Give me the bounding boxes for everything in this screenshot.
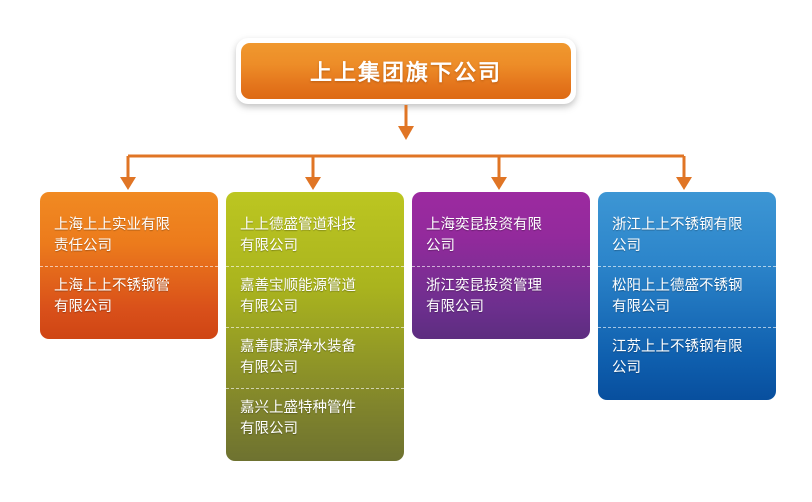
connector-group <box>128 105 684 178</box>
arrowhead-branch-1 <box>120 177 136 190</box>
card-3d-right-edge <box>775 198 783 403</box>
column-card-2-body: 上上德盛管道科技 有限公司 嘉善宝顺能源管道 有限公司 嘉善康源净水装备 有限公… <box>226 192 404 461</box>
list-item: 浙江奕昆投资管理 有限公司 <box>412 266 590 327</box>
list-item: 嘉兴上盛特种管件 有限公司 <box>226 388 404 449</box>
card-3d-bottom-edge <box>46 338 225 347</box>
root-node-body: 上上集团旗下公司 <box>241 43 571 99</box>
arrowhead-branch-2 <box>305 177 321 190</box>
column-card-4[interactable]: 浙江上上不锈钢有限 公司 松阳上上德盛不锈钢 有限公司 江苏上上不锈钢有限 公司 <box>598 192 776 400</box>
list-item: 浙江上上不锈钢有限 公司 <box>598 206 776 266</box>
card-3d-right-edge <box>589 198 597 342</box>
root-node[interactable]: 上上集团旗下公司 <box>236 38 576 104</box>
column-card-2[interactable]: 上上德盛管道科技 有限公司 嘉善宝顺能源管道 有限公司 嘉善康源净水装备 有限公… <box>226 192 404 461</box>
arrowhead-branch-3 <box>491 177 507 190</box>
org-chart: 上上集团旗下公司 上海上上实业有限 责任公司 上海上上不锈钢管 有限公司 <box>0 0 812 502</box>
list-item: 上海奕昆投资有限 公司 <box>412 206 590 266</box>
arrowhead-branch-4 <box>676 177 692 190</box>
arrowhead-root <box>398 126 414 140</box>
column-card-1[interactable]: 上海上上实业有限 责任公司 上海上上不锈钢管 有限公司 <box>40 192 218 339</box>
card-3d-right-edge <box>217 198 225 342</box>
list-item: 江苏上上不锈钢有限 公司 <box>598 327 776 388</box>
list-item: 上上德盛管道科技 有限公司 <box>226 206 404 266</box>
list-item: 上海上上实业有限 责任公司 <box>40 206 218 266</box>
card-3d-bottom-edge <box>604 399 783 408</box>
column-card-4-body: 浙江上上不锈钢有限 公司 松阳上上德盛不锈钢 有限公司 江苏上上不锈钢有限 公司 <box>598 192 776 400</box>
connector-arrowheads <box>120 126 692 190</box>
column-card-3[interactable]: 上海奕昆投资有限 公司 浙江奕昆投资管理 有限公司 <box>412 192 590 339</box>
column-card-3-body: 上海奕昆投资有限 公司 浙江奕昆投资管理 有限公司 <box>412 192 590 339</box>
root-node-label: 上上集团旗下公司 <box>310 55 502 87</box>
card-3d-bottom-edge <box>232 460 411 469</box>
card-3d-bottom-edge <box>418 338 597 347</box>
column-card-1-body: 上海上上实业有限 责任公司 上海上上不锈钢管 有限公司 <box>40 192 218 339</box>
card-3d-right-edge <box>403 198 411 464</box>
list-item: 嘉善康源净水装备 有限公司 <box>226 327 404 388</box>
list-item: 嘉善宝顺能源管道 有限公司 <box>226 266 404 327</box>
list-item: 上海上上不锈钢管 有限公司 <box>40 266 218 327</box>
list-item: 松阳上上德盛不锈钢 有限公司 <box>598 266 776 327</box>
